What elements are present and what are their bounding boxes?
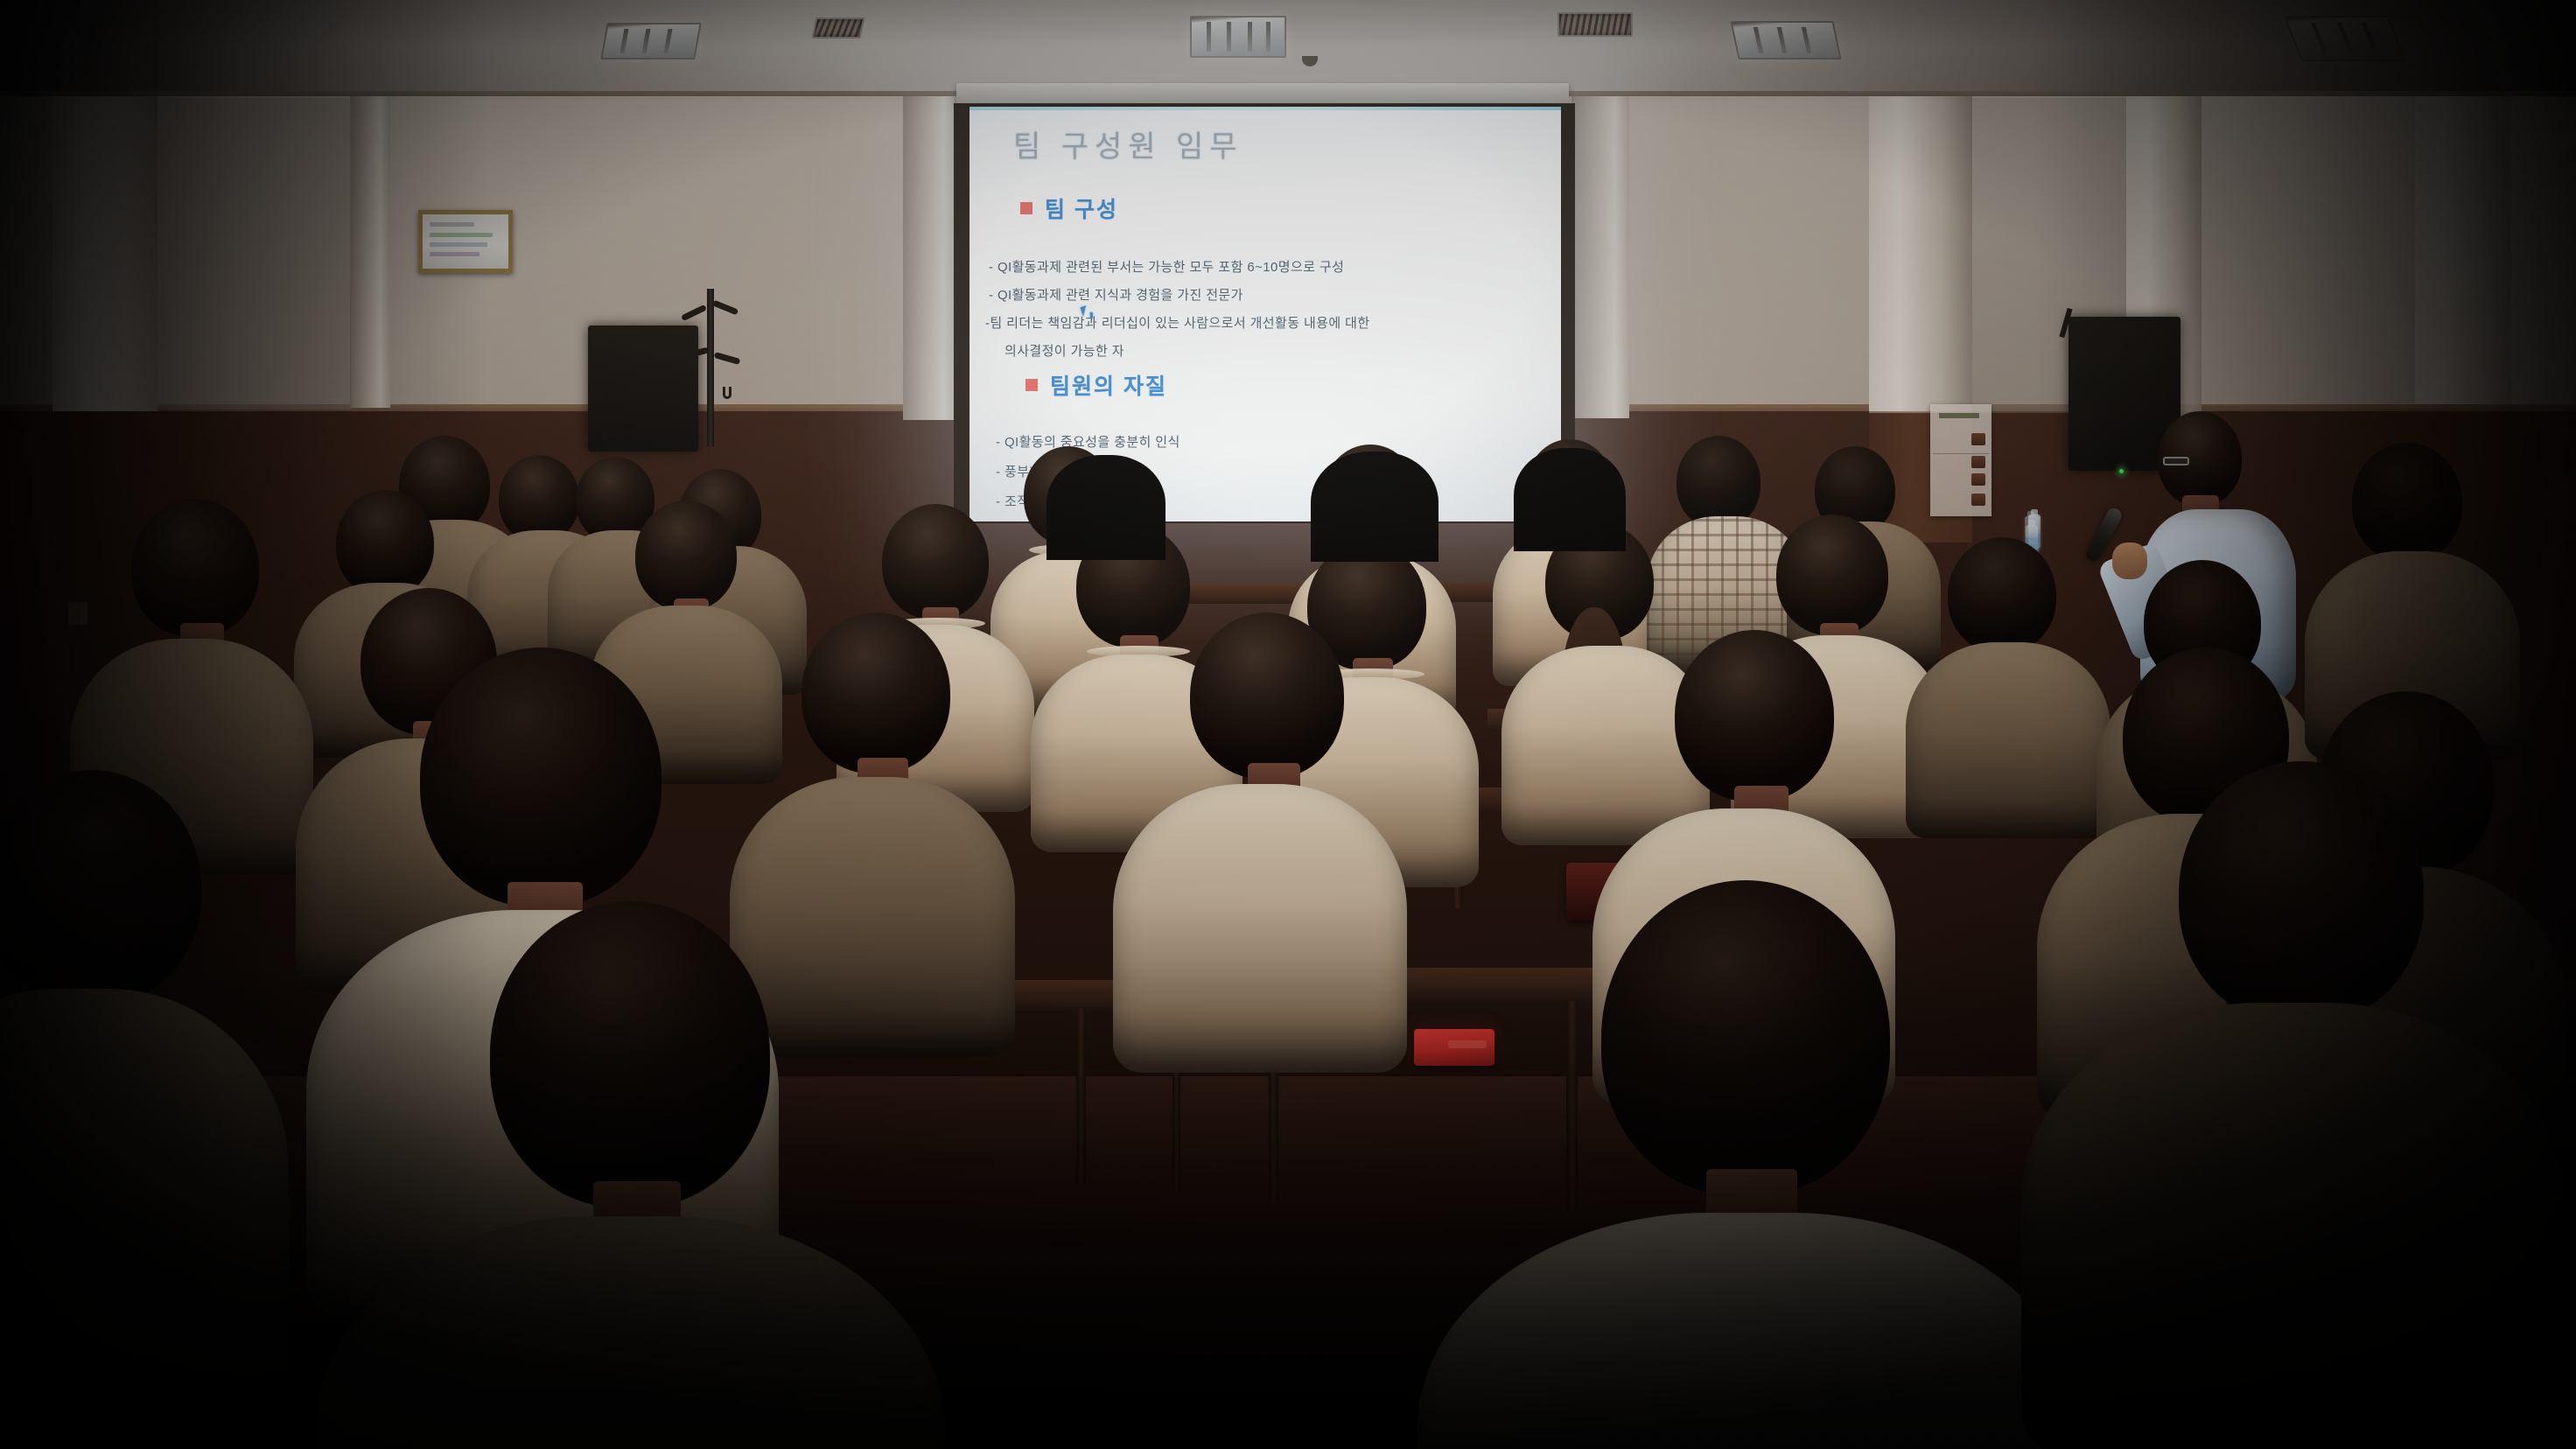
head: [1776, 514, 1888, 635]
head: [336, 490, 434, 597]
wall-outlet-icon: [68, 602, 87, 625]
red-pencil-case: [1414, 1029, 1494, 1066]
framed-picture: [418, 210, 513, 273]
head: [1675, 630, 1834, 801]
torso: [2021, 1003, 2564, 1449]
head-occluding-screen: [1514, 448, 1626, 551]
head-occluding-screen: [1311, 451, 1438, 562]
wall-column: [2415, 96, 2511, 404]
torso: [1906, 642, 2110, 838]
head: [2352, 443, 2462, 562]
loudspeaker-left: [588, 325, 698, 451]
eyeglasses-icon: [2163, 457, 2189, 465]
slide-bullet: - QI활동의 중요성을 충분히 인식: [996, 432, 1180, 451]
bullet-square-icon: [1025, 379, 1038, 391]
wall-column: [903, 96, 957, 420]
head: [801, 612, 950, 773]
desk-leg: [1566, 1001, 1578, 1211]
notice-board-poster: [1930, 404, 1991, 516]
wall-column: [1571, 96, 1629, 418]
section-heading-text: 팀 구성: [1045, 192, 1118, 224]
head: [499, 455, 579, 542]
head: [420, 647, 661, 906]
head: [1948, 537, 2056, 653]
slide-bullet: -팀 리더는 책임감과 리더십이 있는 사람으로서 개선활동 내용에 대한: [985, 313, 1370, 332]
slide-bullet-continuation: 의사결정이 가능한 자: [1004, 341, 1124, 360]
head: [635, 500, 737, 611]
head: [490, 901, 770, 1207]
presenter-hand: [2112, 542, 2147, 579]
head: [1601, 880, 1890, 1195]
head: [882, 504, 989, 619]
desk-leg: [1076, 1008, 1086, 1183]
wall-recess: [157, 98, 352, 409]
wall-column: [350, 96, 390, 408]
wall-column: [52, 96, 157, 411]
head: [2179, 761, 2424, 1024]
head: [1676, 436, 1760, 528]
microphone-led-icon: [2119, 469, 2124, 473]
head: [1190, 612, 1344, 779]
section-heading-text: 팀원의 자질: [1050, 369, 1167, 401]
bullet-square-icon: [1020, 202, 1032, 214]
slide-bullet: - QI활동과제 관련된 부서는 가능한 모두 포함 6~10명으로 구성: [989, 257, 1344, 276]
slide-section-heading: 팀원의 자질: [1025, 369, 1167, 401]
slide-bullet: - QI활동과제 관련 지식과 경험을 가진 전문가: [989, 285, 1243, 304]
slide-section-heading: 팀 구성: [1020, 192, 1118, 224]
screen-top-edge-glow: [969, 107, 1561, 110]
torso: [730, 777, 1015, 1057]
lecture-hall-photo: 팀 구성원 임무 팀 구성 - QI활동과제 관련된 부서는 가능한 모두 포함…: [0, 0, 2576, 1449]
slide-title: 팀 구성원 임무: [1013, 122, 1243, 165]
head: [131, 499, 259, 637]
torso: [1113, 784, 1407, 1073]
wall-column: [1869, 96, 1972, 413]
head-occluding-screen: [1046, 455, 1165, 560]
